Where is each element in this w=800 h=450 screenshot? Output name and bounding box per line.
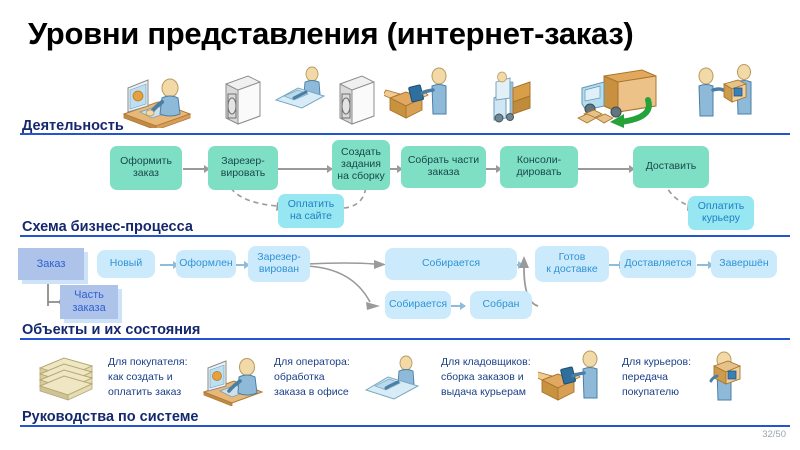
arrow-activity-2 bbox=[278, 168, 332, 170]
state-sobiraetsya[interactable]: Собирается bbox=[385, 248, 517, 280]
manual-warehouse-icon bbox=[538, 348, 602, 411]
arrow-activity-3 bbox=[388, 168, 402, 170]
object-chast-zakaza[interactable]: Часть заказа bbox=[60, 285, 118, 319]
step-dostavit[interactable]: Доставить bbox=[633, 146, 709, 188]
state-gotov-k-dostavke[interactable]: Готов к доставке bbox=[535, 246, 609, 282]
slide-canvas: Уровни представления (интернет-заказ) bbox=[0, 0, 800, 450]
manual-operator-icon bbox=[362, 352, 424, 407]
step-sobrat-chasti[interactable]: Собрать части заказа bbox=[401, 146, 486, 188]
object-zakaz[interactable]: Заказ bbox=[18, 248, 84, 280]
section-label-manuals: Руководства по системе bbox=[22, 409, 199, 425]
state-dostavlyaetsya[interactable]: Доставляется bbox=[620, 250, 696, 278]
state-part-sobran[interactable]: Собран bbox=[470, 291, 532, 319]
manual-courier-icon bbox=[700, 348, 750, 411]
manual-warehouse-text: Для кладовщиков: сборка заказов и выдача… bbox=[441, 355, 531, 401]
illustration-handover bbox=[692, 62, 758, 127]
illustration-packer bbox=[384, 64, 452, 127]
stack-of-books-icon bbox=[36, 354, 98, 407]
section-label-objects: Объекты и их состояния bbox=[22, 322, 200, 338]
state-zarezervirovan[interactable]: Зарезер- вирован bbox=[248, 246, 310, 282]
illustration-forklift bbox=[488, 68, 542, 129]
manual-buyer-text: Для покупателя: как создать и оплатить з… bbox=[108, 355, 188, 401]
section-label-activity: Деятельность bbox=[22, 118, 124, 134]
arrow-reserved-to-part-assembling bbox=[306, 262, 396, 310]
step-oformit-zakaz[interactable]: Оформить заказ bbox=[110, 146, 182, 190]
section-rule-manuals bbox=[20, 425, 790, 427]
step-oplatit-na-sayte[interactable]: Оплатить на сайте bbox=[278, 194, 344, 228]
section-rule-objects bbox=[20, 338, 790, 340]
state-part-sobiraetsya[interactable]: Собирается bbox=[385, 291, 451, 319]
section-label-business-process: Схема бизнес-процесса bbox=[22, 219, 193, 235]
state-novyy[interactable]: Новый bbox=[97, 250, 155, 278]
arrow-activity-4 bbox=[485, 168, 501, 170]
page-number: 32/50 bbox=[762, 429, 786, 440]
illustration-delivery-truck bbox=[576, 62, 662, 133]
illustration-server-2 bbox=[336, 72, 378, 131]
state-zavershen[interactable]: Завершён bbox=[711, 250, 777, 278]
step-oplatit-kuryeru[interactable]: Оплатить курьеру bbox=[688, 196, 754, 230]
state-oformlen[interactable]: Оформлен bbox=[176, 250, 236, 278]
manual-courier-text: Для курьеров: передача покупателю bbox=[622, 355, 691, 401]
step-konsolidirovat[interactable]: Консоли- дировать bbox=[500, 146, 578, 188]
section-rule-activity bbox=[20, 133, 790, 135]
illustration-customer-pc bbox=[118, 66, 192, 133]
page-title: Уровни представления (интернет-заказ) bbox=[28, 16, 633, 52]
step-sozdat-zadaniya[interactable]: Создать задания на сборку bbox=[332, 140, 390, 190]
arrow-activity-5 bbox=[578, 168, 634, 170]
section-rule-business-process bbox=[20, 235, 790, 237]
step-zarezervirovat[interactable]: Зарезер- вировать bbox=[208, 146, 278, 190]
illustration-server-1 bbox=[222, 72, 264, 131]
arrow-activity-1 bbox=[183, 168, 209, 170]
illustration-operator bbox=[272, 62, 330, 115]
manual-operator-text: Для оператора: обработка заказа в офисе bbox=[274, 355, 350, 401]
manual-buyer-icon bbox=[200, 350, 266, 411]
